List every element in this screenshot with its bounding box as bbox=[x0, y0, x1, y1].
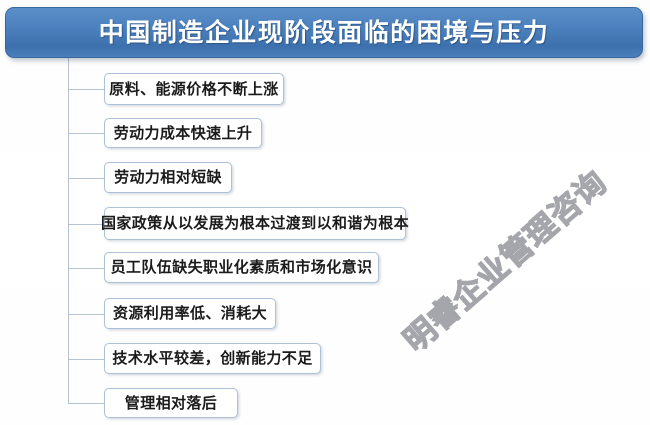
page-title: 中国制造企业现阶段面临的困境与压力 bbox=[99, 20, 550, 45]
connector-branch bbox=[68, 178, 104, 179]
diagram-item-label: 国家政策从以发展为根本过渡到以和谐为根本 bbox=[101, 216, 409, 231]
connector-branch bbox=[68, 224, 104, 225]
diagram-item-label: 员工队伍缺失职业化素质和市场化意识 bbox=[111, 260, 373, 275]
diagram-item[interactable]: 技术水平较差，创新能力不足 bbox=[104, 343, 321, 374]
connector-branch bbox=[68, 403, 104, 404]
diagram-title-box: 中国制造企业现阶段面临的困境与压力 bbox=[5, 7, 643, 58]
diagram-item-label: 劳动力相对短缺 bbox=[114, 170, 222, 185]
connector-branch bbox=[68, 314, 104, 315]
diagram-item-label: 原料、能源价格不断上涨 bbox=[109, 82, 278, 97]
diagram-item-label: 劳动力成本快速上升 bbox=[114, 126, 253, 141]
diagram-item[interactable]: 劳动力相对短缺 bbox=[104, 162, 232, 193]
diagram-item[interactable]: 原料、能源价格不断上涨 bbox=[104, 73, 284, 105]
connector-trunk bbox=[68, 58, 69, 403]
diagram-item-label: 技术水平较差，创新能力不足 bbox=[112, 351, 312, 366]
diagram-item[interactable]: 员工队伍缺失职业化素质和市场化意识 bbox=[104, 252, 379, 283]
diagram-canvas: 明睿企业管理咨询 中国制造企业现阶段面临的困境与压力 原料、能源价格不断上涨劳动… bbox=[0, 0, 650, 425]
connector-branch bbox=[68, 359, 104, 360]
diagram-item-label: 管理相对落后 bbox=[125, 396, 217, 411]
watermark: 明睿企业管理咨询 bbox=[392, 158, 615, 360]
diagram-item[interactable]: 管理相对落后 bbox=[104, 388, 238, 418]
connector-branch bbox=[68, 89, 104, 90]
diagram-item[interactable]: 国家政策从以发展为根本过渡到以和谐为根本 bbox=[104, 207, 406, 240]
connector-branch bbox=[68, 133, 104, 134]
watermark-text: 明睿企业管理咨询 bbox=[397, 164, 614, 359]
diagram-item[interactable]: 资源利用率低、消耗大 bbox=[104, 298, 276, 329]
diagram-item[interactable]: 劳动力成本快速上升 bbox=[104, 118, 262, 148]
connector-branch bbox=[68, 268, 104, 269]
diagram-item-label: 资源利用率低、消耗大 bbox=[113, 306, 267, 321]
